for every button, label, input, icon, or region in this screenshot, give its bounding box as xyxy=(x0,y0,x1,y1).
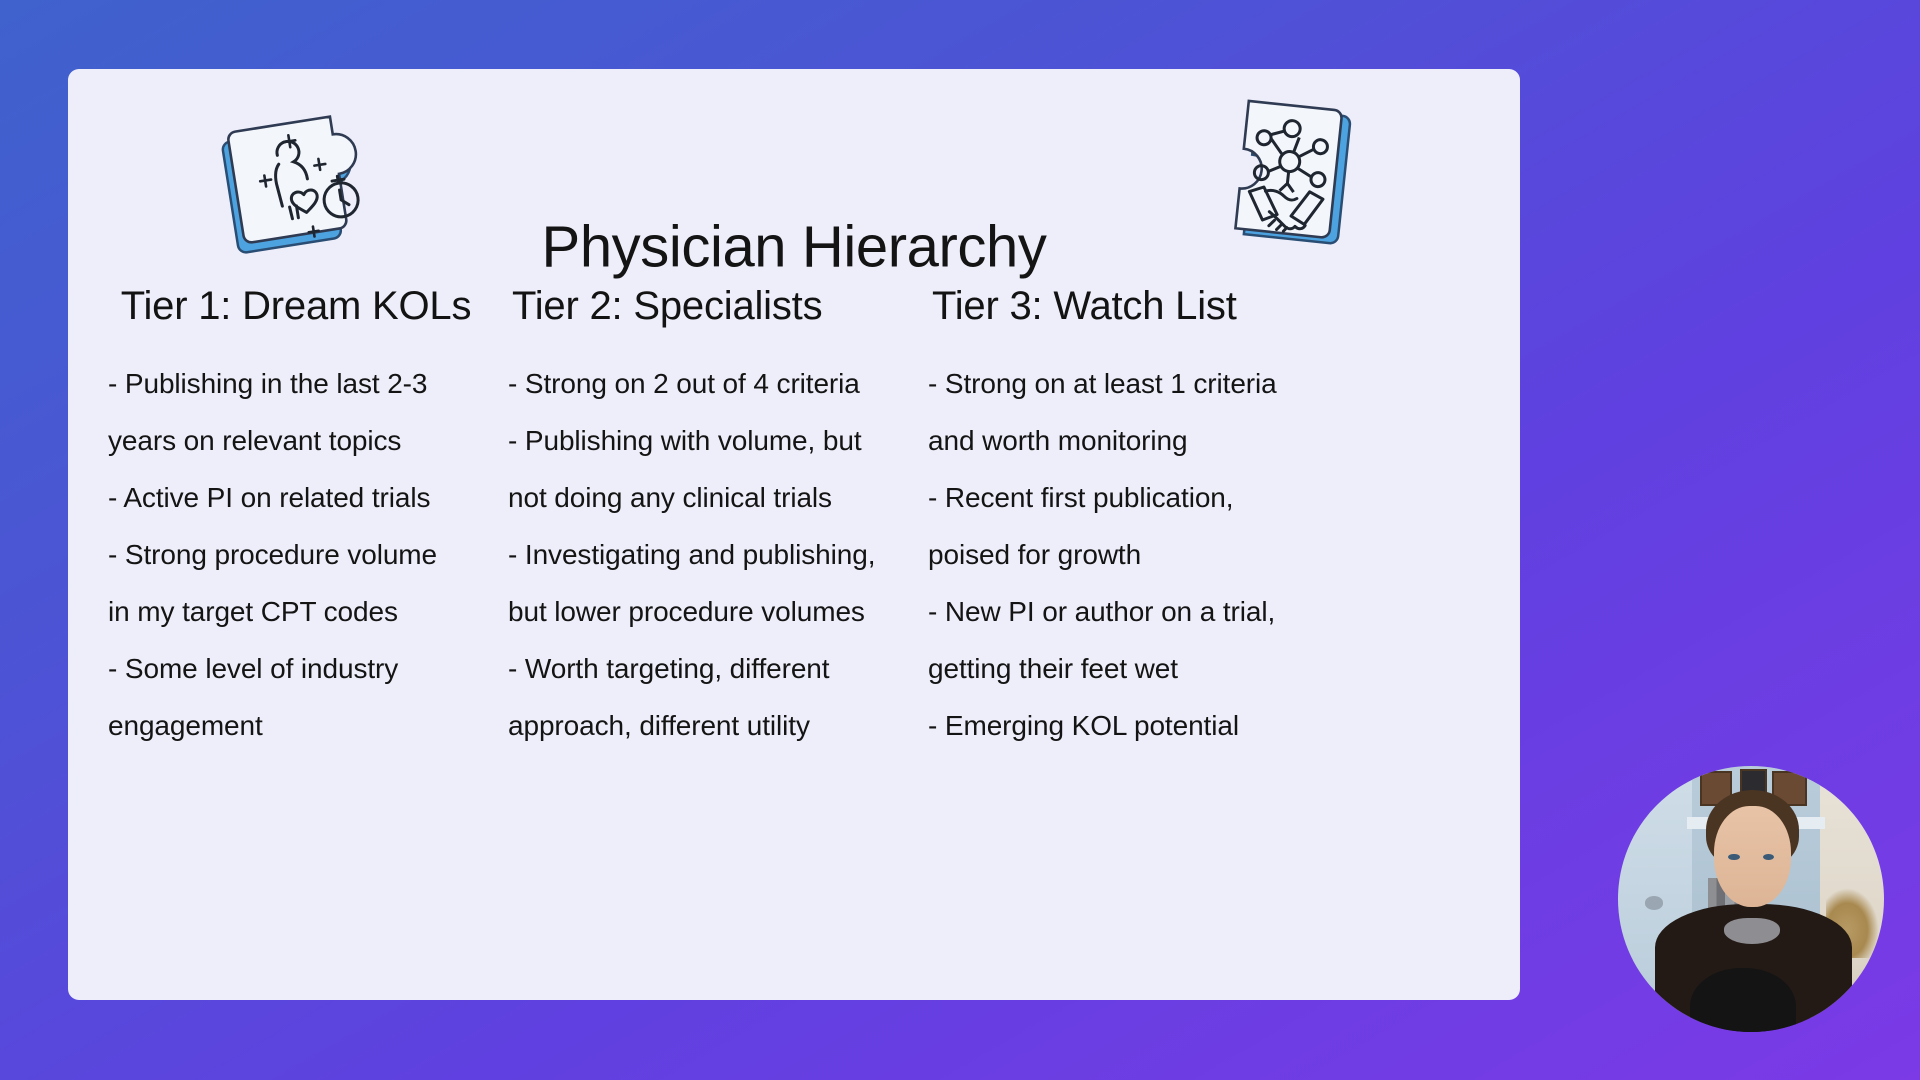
list-item: - Some level of industry engagement xyxy=(108,640,492,754)
list-item: - Investigating and publishing, but lowe… xyxy=(508,526,912,640)
tier-columns: Tier 1: Dream KOLs - Publishing in the l… xyxy=(68,284,1520,754)
list-item: - Strong on at least 1 criteria and wort… xyxy=(928,355,1490,469)
tier-column-2: Tier 2: Specialists - Strong on 2 out of… xyxy=(500,284,920,754)
list-item: - Strong on 2 out of 4 criteria xyxy=(508,355,912,412)
microphone xyxy=(1690,968,1796,1032)
list-item: - Worth targeting, different approach, d… xyxy=(508,640,912,754)
tier-3-bullet-list: - Strong on at least 1 criteria and wort… xyxy=(928,355,1490,754)
tier-1-bullet-list: - Publishing in the last 2-3 years on re… xyxy=(108,355,492,754)
list-item: - Strong procedure volume in my target C… xyxy=(108,526,492,640)
list-item: - Emerging KOL potential xyxy=(928,697,1490,754)
tier-column-1: Tier 1: Dream KOLs - Publishing in the l… xyxy=(90,284,500,754)
list-item: - Active PI on related trials xyxy=(108,469,492,526)
tier-3-heading: Tier 3: Watch List xyxy=(928,284,1490,329)
slide-card: Physician Hierarchy Tier 1: Dream KOLs -… xyxy=(68,69,1520,1000)
presenter-webcam-circle[interactable] xyxy=(1618,766,1884,1032)
list-item: - Publishing in the last 2-3 years on re… xyxy=(108,355,492,469)
tier-2-bullet-list: - Strong on 2 out of 4 criteria - Publis… xyxy=(508,355,912,754)
presenter-face xyxy=(1714,806,1791,907)
list-item: - New PI or author on a trial, getting t… xyxy=(928,583,1490,697)
tier-2-heading: Tier 2: Specialists xyxy=(508,284,912,329)
webcam-video-feed xyxy=(1618,766,1884,1032)
tier-1-heading: Tier 1: Dream KOLs xyxy=(108,284,492,329)
list-item: - Publishing with volume, but not doing … xyxy=(508,412,912,526)
list-item: - Recent first publication, poised for g… xyxy=(928,469,1490,583)
webcam-door-knob xyxy=(1645,896,1664,909)
slide-header: Physician Hierarchy xyxy=(68,69,1520,284)
page-title: Physician Hierarchy xyxy=(68,214,1520,281)
presenter-eye xyxy=(1728,854,1739,860)
tier-column-3: Tier 3: Watch List - Strong on at least … xyxy=(920,284,1498,754)
